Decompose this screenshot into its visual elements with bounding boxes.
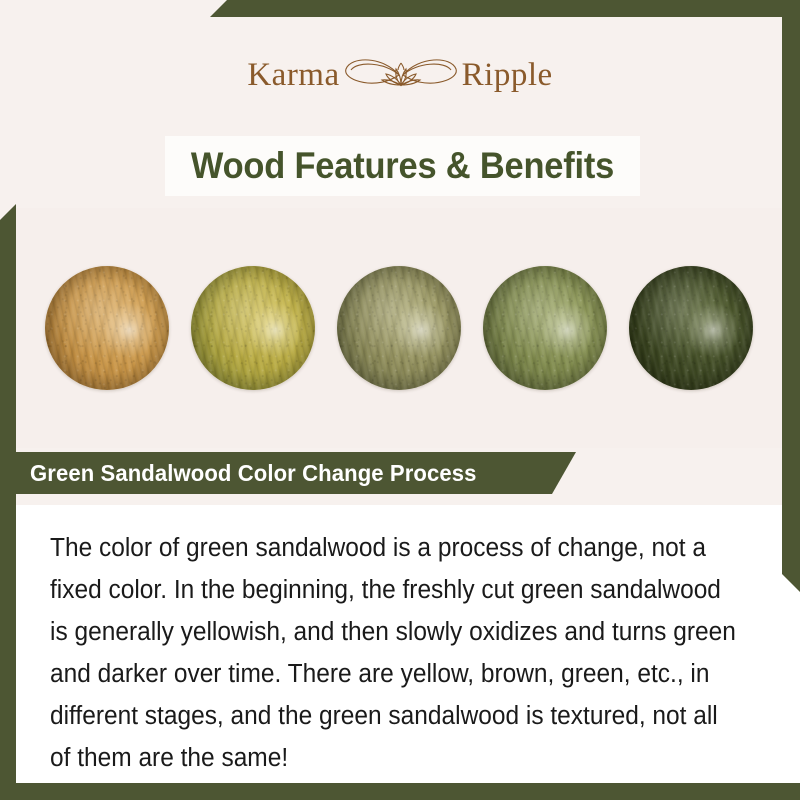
bead-stage-5 [629,266,753,390]
frame-band-top [210,0,800,17]
bead-shading-layer [483,266,607,390]
poster-root: Karma [0,0,800,800]
bead-stage-2 [191,266,315,390]
brand-logo: Karma [0,44,800,106]
frame-band-bottom [0,783,800,800]
body-paragraph: The color of green sandalwood is a proce… [50,527,737,779]
section-banner: Green Sandalwood Color Change Process [16,452,576,494]
brand-name-right: Ripple [462,57,553,94]
frame-band-left [0,204,16,800]
section-heading: Green Sandalwood Color Change Process [30,460,476,487]
bead-stage-3 [337,266,461,390]
bead-stage-1 [45,266,169,390]
frame-corner-bottom-right [782,783,800,800]
bead-strip [16,208,782,448]
page-title: Wood Features & Benefits [191,145,614,187]
bead-shading-layer [191,266,315,390]
lotus-flourish-icon [343,52,459,98]
brand-name-left: Karma [247,57,339,94]
title-banner: Wood Features & Benefits [165,136,640,196]
bead-shading-layer [337,266,461,390]
bead-row [16,208,782,448]
body-panel: The color of green sandalwood is a proce… [16,505,800,783]
bead-shading-layer [629,266,753,390]
bead-shading-layer [45,266,169,390]
bead-stage-4 [483,266,607,390]
